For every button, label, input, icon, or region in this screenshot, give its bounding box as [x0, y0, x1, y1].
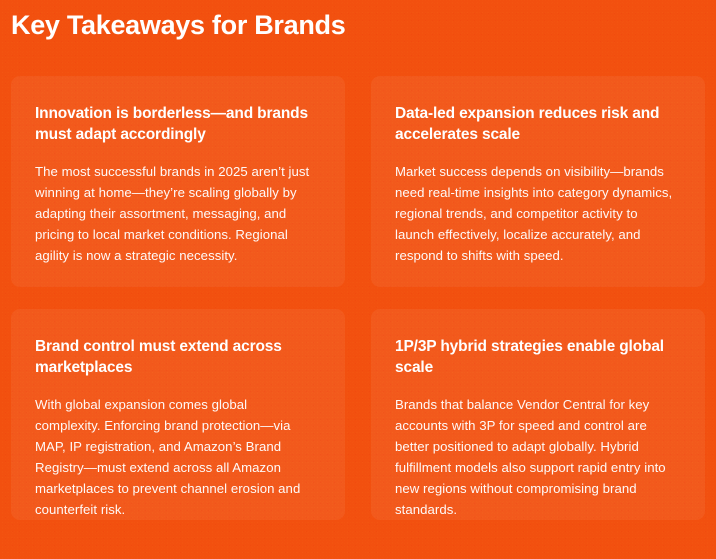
- takeaways-page: Key Takeaways for Brands Innovation is b…: [0, 0, 716, 559]
- takeaway-card-body: Market success depends on visibility—bra…: [395, 161, 675, 266]
- page-title: Key Takeaways for Brands: [11, 8, 345, 42]
- takeaway-cards-grid: Innovation is borderless—and brands must…: [11, 76, 705, 520]
- takeaway-card-body: With global expansion comes global compl…: [35, 394, 315, 520]
- takeaway-card: Innovation is borderless—and brands must…: [11, 76, 345, 287]
- takeaway-card-title: Innovation is borderless—and brands must…: [35, 103, 315, 145]
- takeaway-card-title: Data-led expansion reduces risk and acce…: [395, 103, 675, 145]
- takeaway-card: 1P/3P hybrid strategies enable global sc…: [371, 309, 705, 520]
- takeaway-card-body: The most successful brands in 2025 aren’…: [35, 161, 315, 266]
- takeaway-card-body: Brands that balance Vendor Central for k…: [395, 394, 675, 520]
- takeaway-card-title: Brand control must extend across marketp…: [35, 336, 315, 378]
- takeaway-card: Brand control must extend across marketp…: [11, 309, 345, 520]
- takeaway-card-title: 1P/3P hybrid strategies enable global sc…: [395, 336, 675, 378]
- takeaway-card: Data-led expansion reduces risk and acce…: [371, 76, 705, 287]
